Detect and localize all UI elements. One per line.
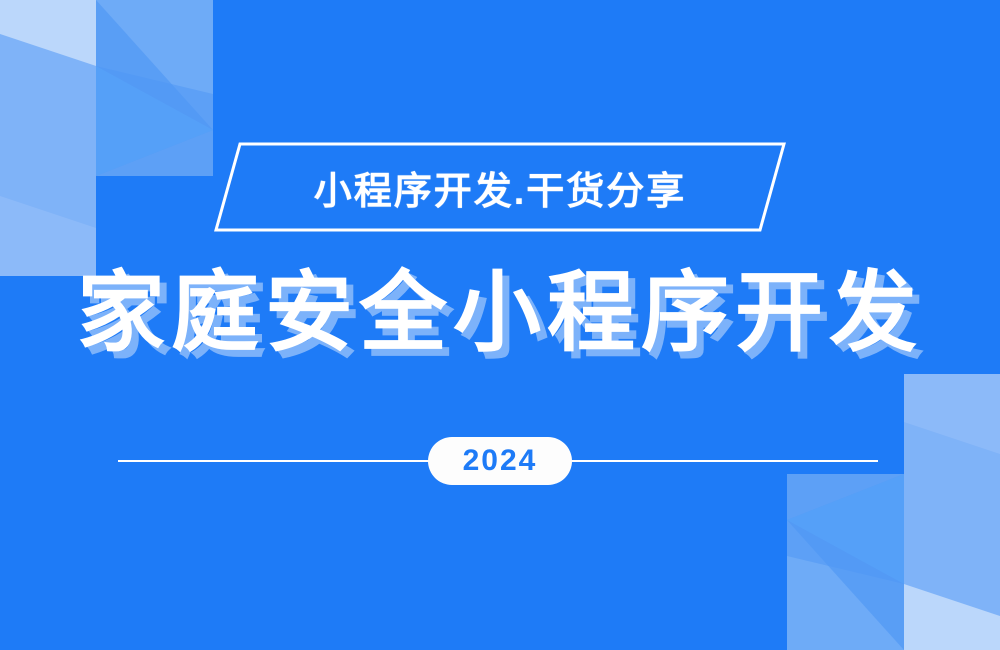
- deco-shape-mid-column-right: [787, 474, 904, 650]
- deco-shape-mid-upper: [96, 0, 213, 94]
- year-divider-row: 2024: [0, 437, 1000, 485]
- deco-shape-chevron-bottom: [787, 474, 904, 650]
- subtitle-text: 小程序开发.干货分享: [210, 138, 790, 236]
- deco-shape-light-left: [0, 34, 96, 276]
- divider-line-left: [118, 460, 430, 462]
- deco-shape-mid-upper-right: [787, 556, 904, 650]
- subtitle-banner: 小程序开发.干货分享: [210, 138, 790, 236]
- poster-canvas: 小程序开发.干货分享 家庭安全小程序开发 2024: [0, 0, 1000, 650]
- deco-shape-pale-wedge-right: [904, 584, 1000, 650]
- divider-line-right: [570, 460, 878, 462]
- status-badge: 2024: [428, 437, 572, 485]
- deco-shape-chevron-fill-right: [787, 474, 904, 584]
- deco-shape-mid-column: [96, 0, 213, 176]
- deco-shape-chevron-top: [96, 0, 213, 176]
- deco-shape-pale-wedge: [0, 0, 96, 66]
- deco-shape-pale-left: [0, 0, 96, 276]
- deco-shape-pale-right: [904, 374, 1000, 650]
- deco-shape-chevron-fill: [96, 66, 213, 176]
- page-title: 家庭安全小程序开发: [0, 258, 1000, 368]
- deco-shape-light-right: [904, 374, 1000, 616]
